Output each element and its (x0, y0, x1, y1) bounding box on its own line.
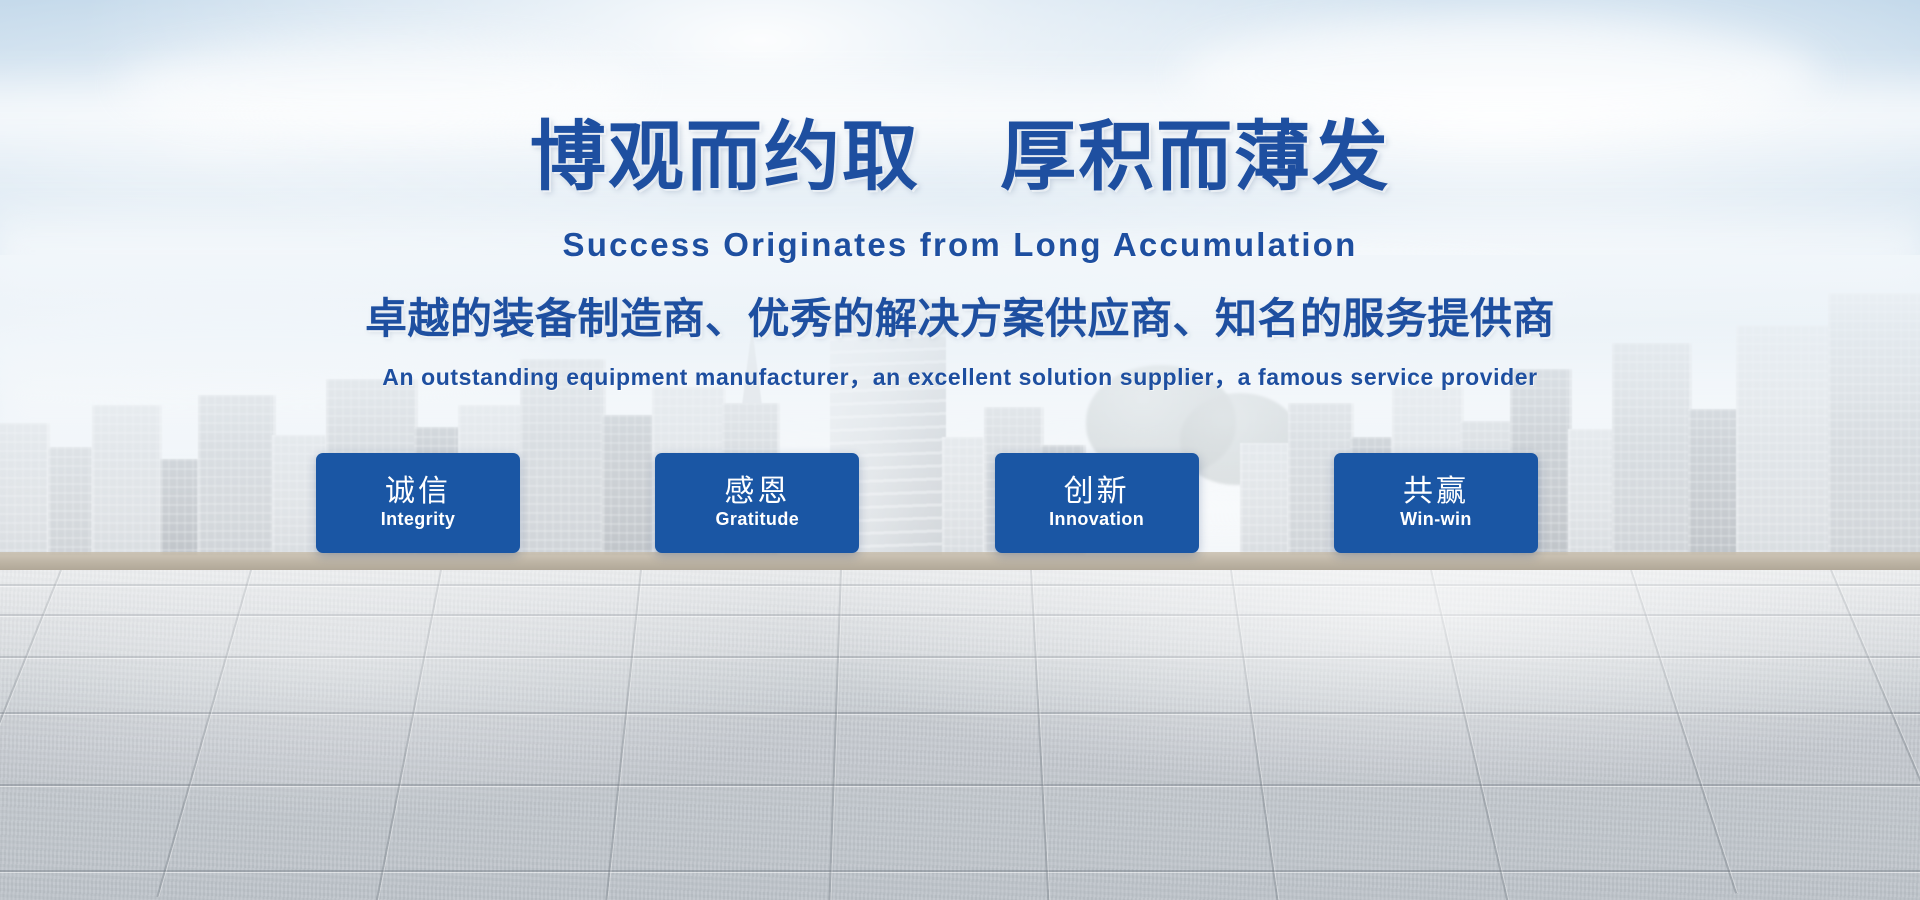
value-card-label-en: Win-win (1400, 510, 1472, 530)
headline-english-subtitle: Success Originates from Long Accumulatio… (0, 228, 1920, 261)
value-card-innovation[interactable]: 创新 Innovation (995, 453, 1199, 553)
subheadline-chinese: 卓越的装备制造商、优秀的解决方案供应商、知名的服务提供商 (0, 298, 1920, 340)
value-card-label-en: Innovation (1049, 510, 1144, 530)
banner-content: 博观而约取 厚积而薄发 Success Originates from Long… (0, 0, 1920, 900)
value-card-label-cn: 创新 (1064, 476, 1130, 508)
value-card-label-en: Gratitude (716, 510, 800, 530)
value-card-integrity[interactable]: 诚信 Integrity (316, 453, 520, 553)
page-title: 博观而约取 厚积而薄发 (0, 120, 1920, 196)
value-card-gratitude[interactable]: 感恩 Gratitude (655, 453, 859, 553)
value-card-label-cn: 诚信 (385, 476, 451, 508)
value-card-label-cn: 共赢 (1403, 476, 1469, 508)
value-card-label-en: Integrity (381, 510, 456, 530)
core-values-list: 诚信 Integrity 感恩 Gratitude 创新 Innovation … (316, 453, 1538, 553)
headline-cn-right: 厚积而薄发 (1000, 115, 1390, 200)
value-card-winwin[interactable]: 共赢 Win-win (1334, 453, 1538, 553)
subheadline-english: An outstanding equipment manufacturer，an… (0, 366, 1920, 389)
value-card-label-cn: 感恩 (724, 476, 790, 508)
hero-banner: 博观而约取 厚积而薄发 Success Originates from Long… (0, 0, 1920, 900)
headline-cn-left: 博观而约取 (530, 115, 920, 200)
